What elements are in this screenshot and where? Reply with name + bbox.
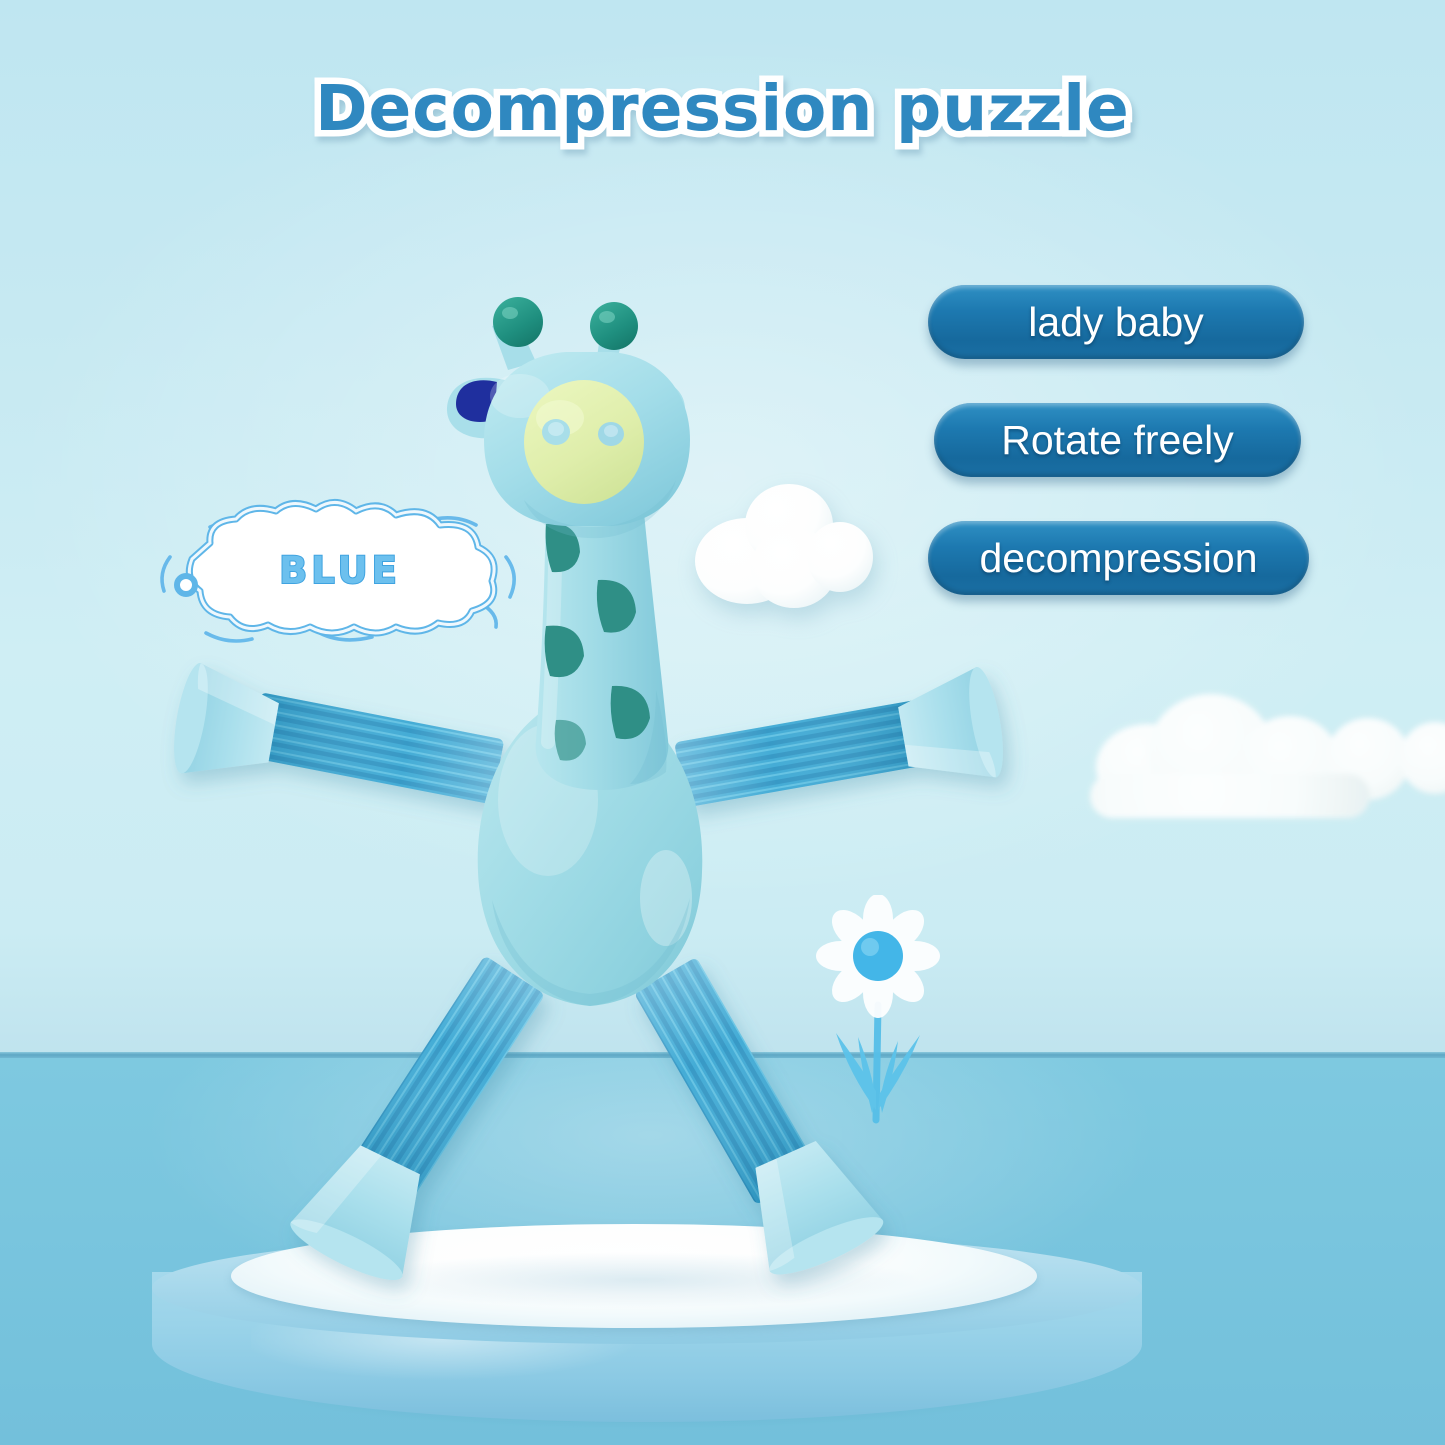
- toy-head[interactable]: [447, 297, 690, 538]
- toy-leg-right[interactable]: [634, 957, 889, 1285]
- toy-leg-left[interactable]: [284, 955, 545, 1290]
- giraffe-pop-tube-toy[interactable]: [0, 0, 1445, 1445]
- toy-muzzle: [524, 380, 644, 504]
- toy-arm-right[interactable]: [674, 665, 1009, 808]
- suction-cup-hand-left: [167, 661, 283, 788]
- toy-arm-left[interactable]: [167, 661, 504, 805]
- suction-cup-hand-right: [894, 665, 1010, 792]
- product-image-scene: Decompression puzzle: [0, 0, 1445, 1445]
